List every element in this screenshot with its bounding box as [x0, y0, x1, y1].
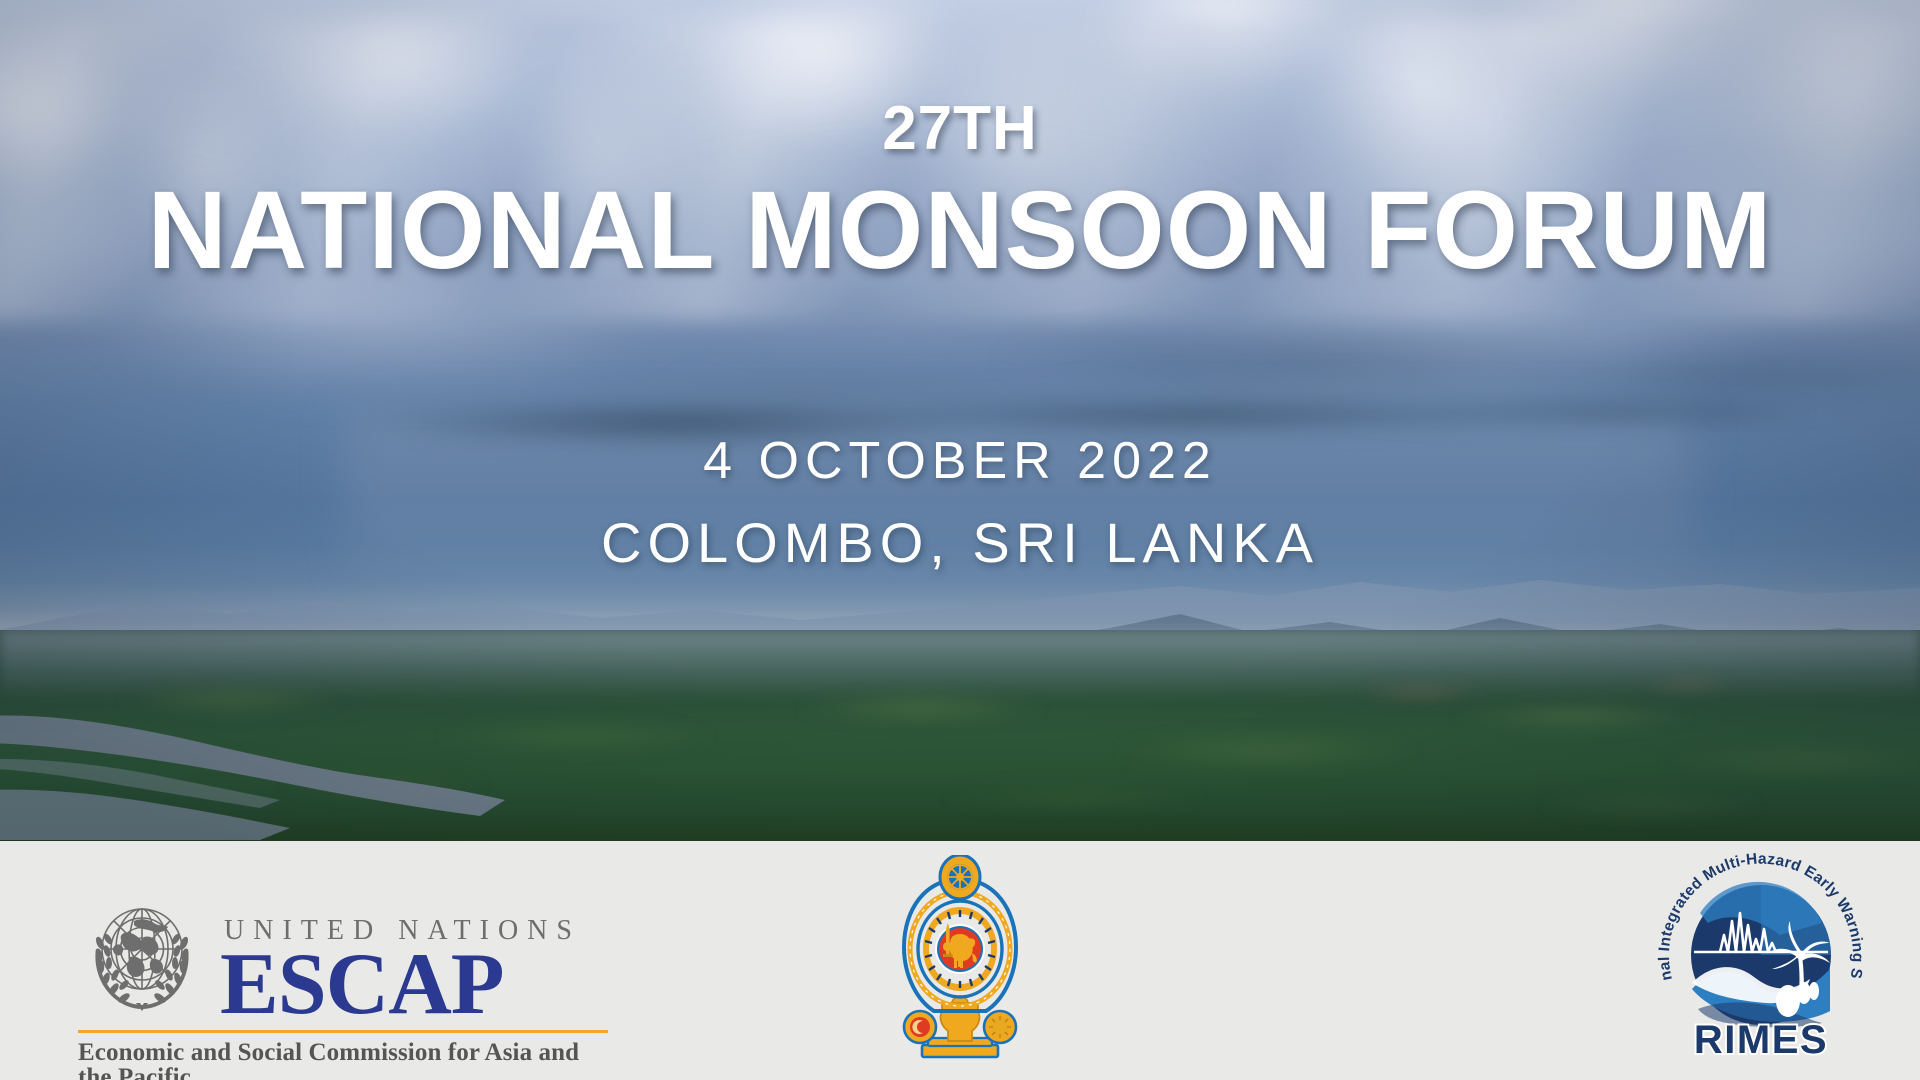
escap-wordmark: UNITED NATIONS ESCAP [220, 917, 608, 1026]
background-photo [0, 0, 1920, 841]
united-nations-emblem-icon [78, 893, 206, 1026]
rimes-logo: Regional Integrated Multi-Hazard Early W… [1648, 851, 1874, 1074]
logo-footer-bar: UNITED NATIONS ESCAP Economic and Social… [0, 841, 1920, 1080]
rimes-wordmark: RIMES [1694, 1018, 1828, 1062]
lake-water [0, 700, 520, 840]
escap-text: ESCAP [220, 945, 608, 1026]
sri-lanka-emblem-icon [890, 855, 1030, 1070]
escap-tagline: Economic and Social Commission for Asia … [78, 1040, 608, 1080]
un-escap-logo: UNITED NATIONS ESCAP Economic and Social… [78, 893, 608, 1080]
poster-canvas: 27TH NATIONAL MONSOON FORUM 4 OCTOBER 20… [0, 0, 1920, 1080]
